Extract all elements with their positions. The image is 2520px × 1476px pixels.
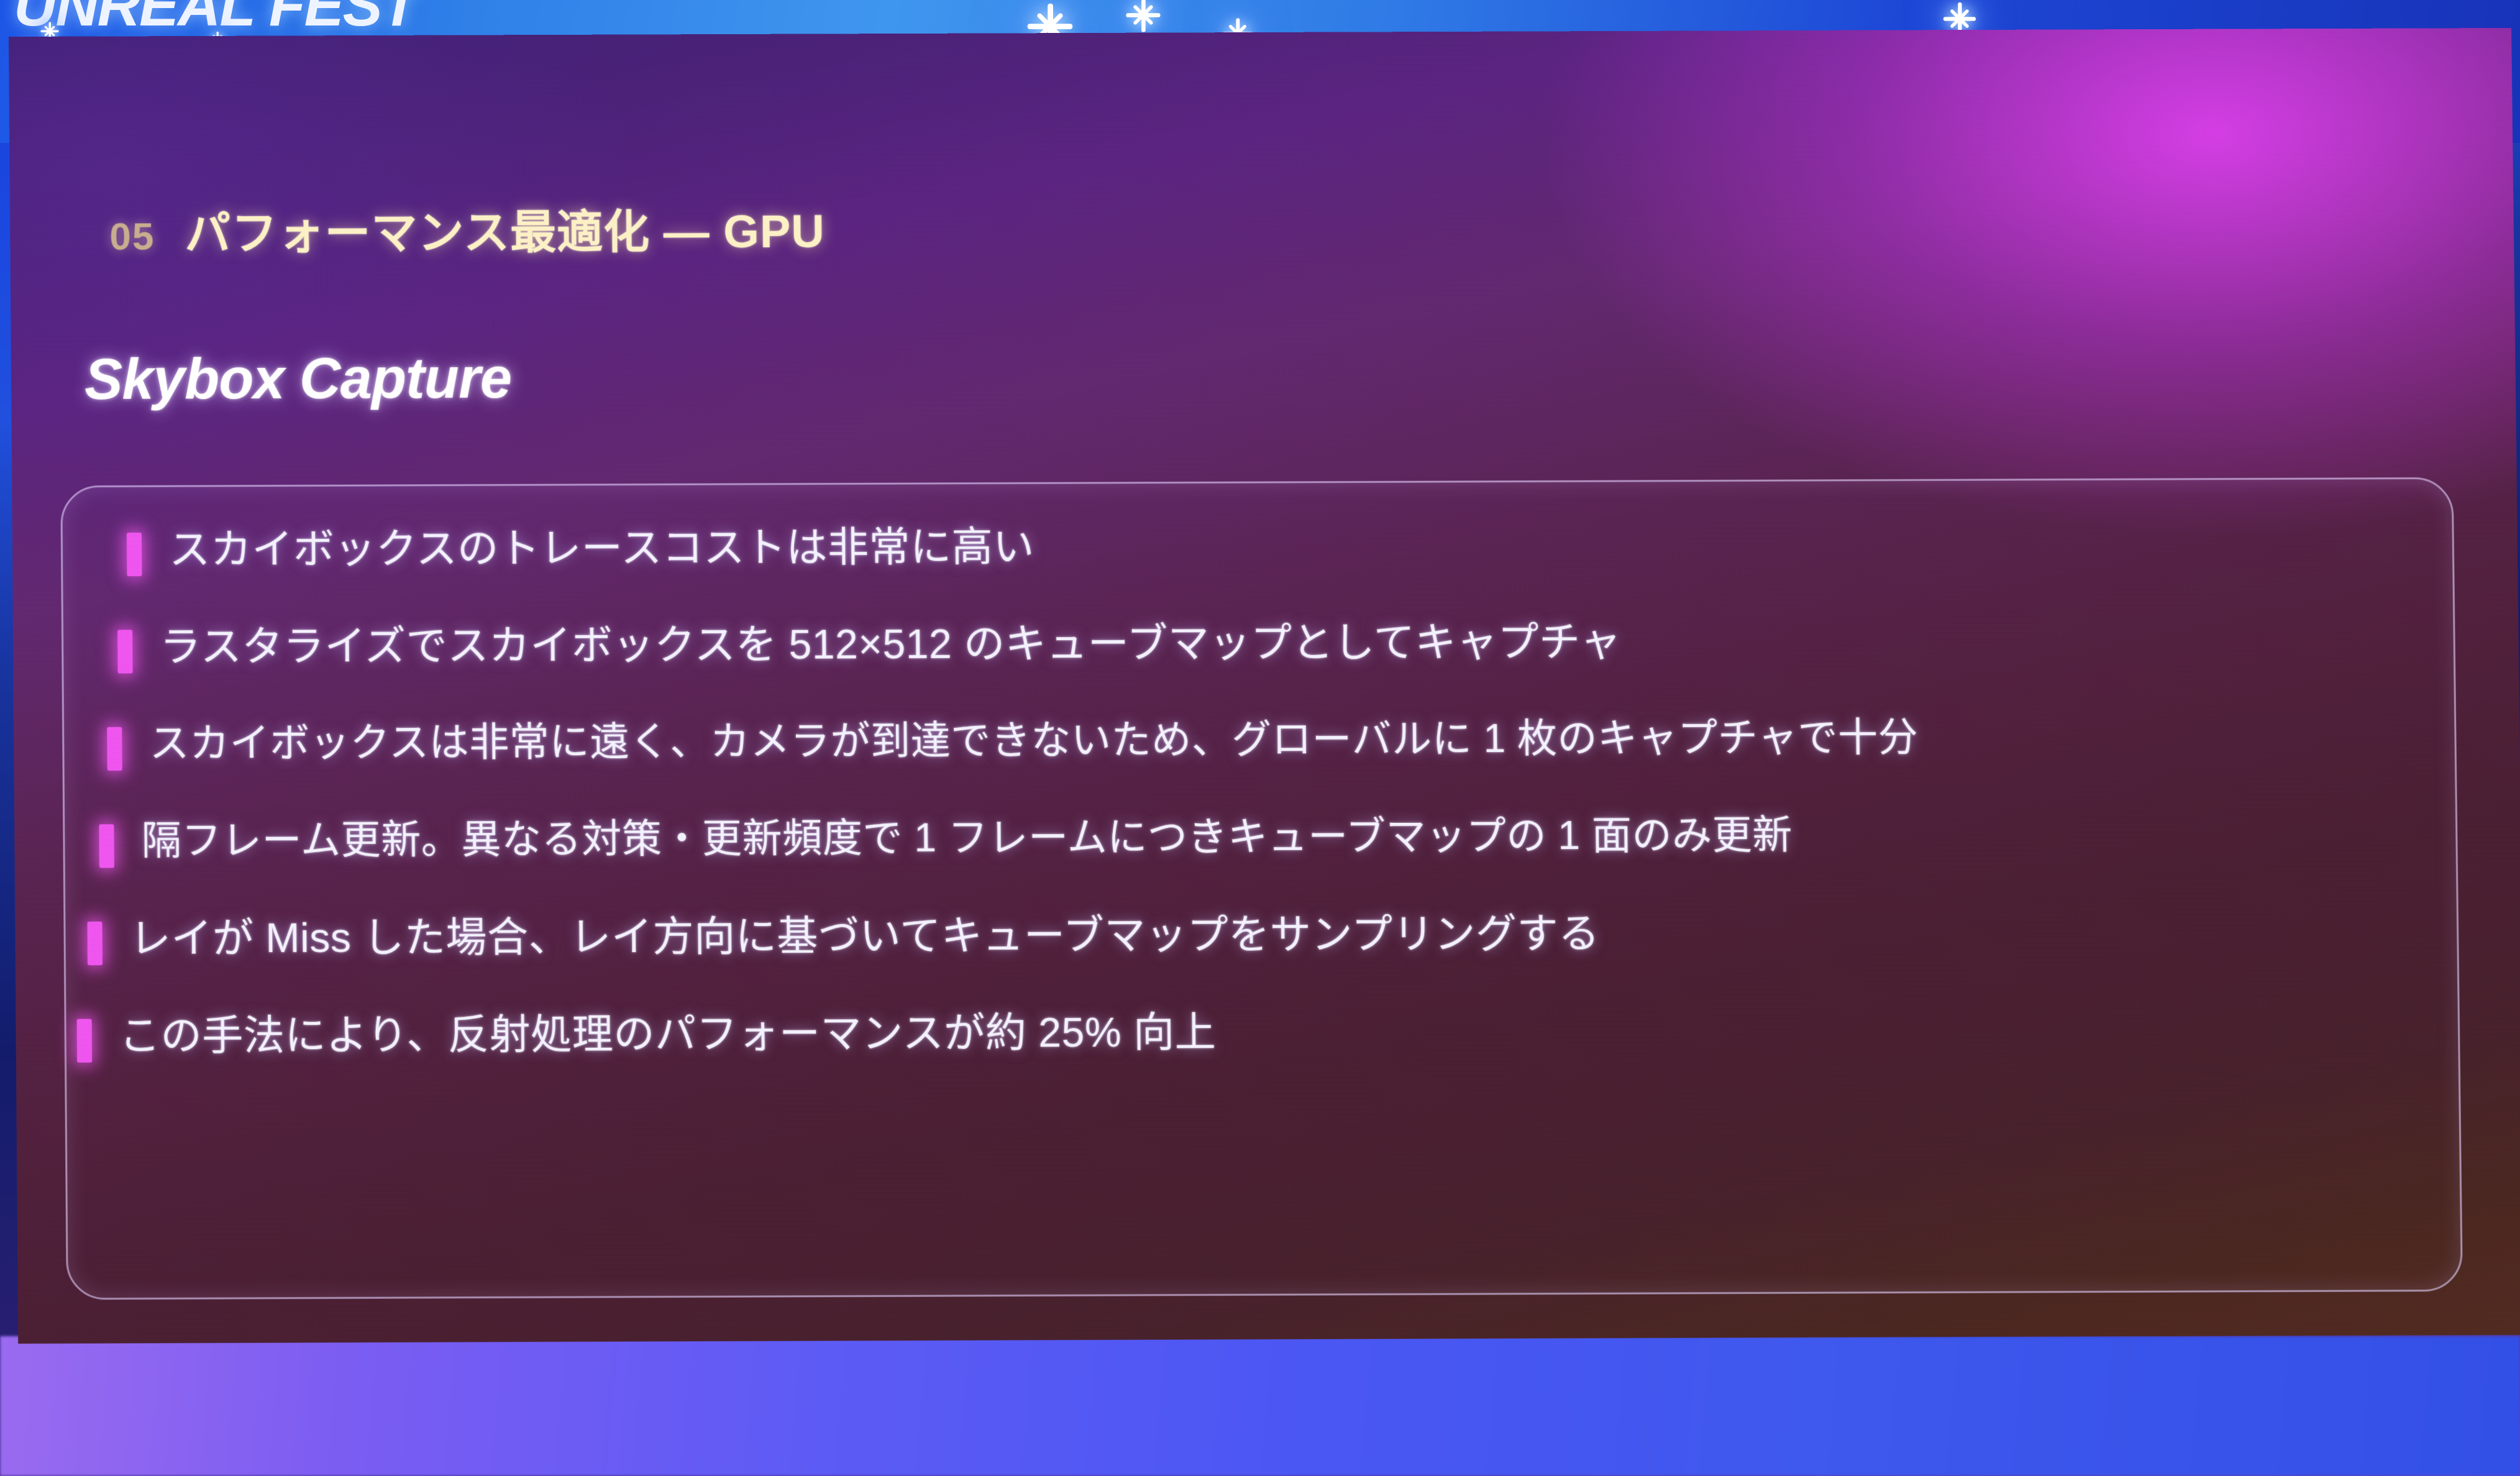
list-item-label: スカイボックスは非常に遠く、カメラが到達できないため、グローバルに 1 枚のキャ…: [149, 716, 1918, 765]
bullet-bar-icon: [127, 533, 142, 576]
list-item: ラスタライズでスカイボックスを 512×512 のキューブマップとしてキャプチャ: [117, 617, 2445, 673]
stage-light-glow-strip: [0, 1336, 2520, 1476]
section-title: パフォーマンス最適化 — GPU: [185, 195, 825, 264]
bullet-bar-icon: [99, 824, 114, 868]
list-item: 隔フレーム更新。異なる対策・更新頻度で 1 フレームにつきキューブマップの 1 …: [99, 811, 2448, 868]
slide-canvas: 05 パフォーマンス最適化 — GPU Skybox Capture スカイボッ…: [9, 28, 2520, 1344]
page-title: Skybox Capture: [84, 346, 512, 413]
bullet-bar-icon: [107, 727, 122, 771]
list-item-label: スカイボックスのトレースコストは非常に高い: [169, 525, 1034, 572]
list-item-label: この手法により、反射処理のパフォーマンスが約 25% 向上: [119, 1010, 1217, 1058]
bullet-bar-icon: [117, 630, 133, 673]
bullet-list: スカイボックスのトレースコストは非常に高いラスタライズでスカイボックスを 512…: [106, 520, 2451, 1111]
projection-stage: UNREAL FEST Tokyo 2025 05 パフォーマンス最適化 — G…: [0, 0, 2520, 1476]
slide-header: 05 パフォーマンス最適化 — GPU: [109, 195, 825, 264]
bullet-bar-icon: [77, 1019, 93, 1062]
list-item-label: レイが Miss した場合、レイ方向に基づいてキューブマップをサンプリングする: [130, 911, 1600, 961]
list-item: レイが Miss した場合、レイ方向に基づいてキューブマップをサンプリングする: [87, 909, 2449, 966]
list-item-label: ラスタライズでスカイボックスを 512×512 のキューブマップとしてキャプチャ: [160, 620, 1622, 669]
section-number: 05: [109, 214, 155, 259]
list-item: この手法により、反射処理のパフォーマンスが約 25% 向上: [77, 1006, 2450, 1063]
event-logo-text: UNREAL FEST: [14, 0, 416, 40]
list-item-label: 隔フレーム更新。異なる対策・更新頻度で 1 フレームにつきキューブマップの 1 …: [141, 814, 1792, 863]
projected-slide-surface: 05 パフォーマンス最適化 — GPU Skybox Capture スカイボッ…: [0, 28, 2520, 1351]
list-item: スカイボックスは非常に遠く、カメラが到達できないため、グローバルに 1 枚のキャ…: [107, 714, 2447, 771]
list-item: スカイボックスのトレースコストは非常に高い: [127, 520, 2444, 576]
bullet-bar-icon: [87, 922, 103, 965]
